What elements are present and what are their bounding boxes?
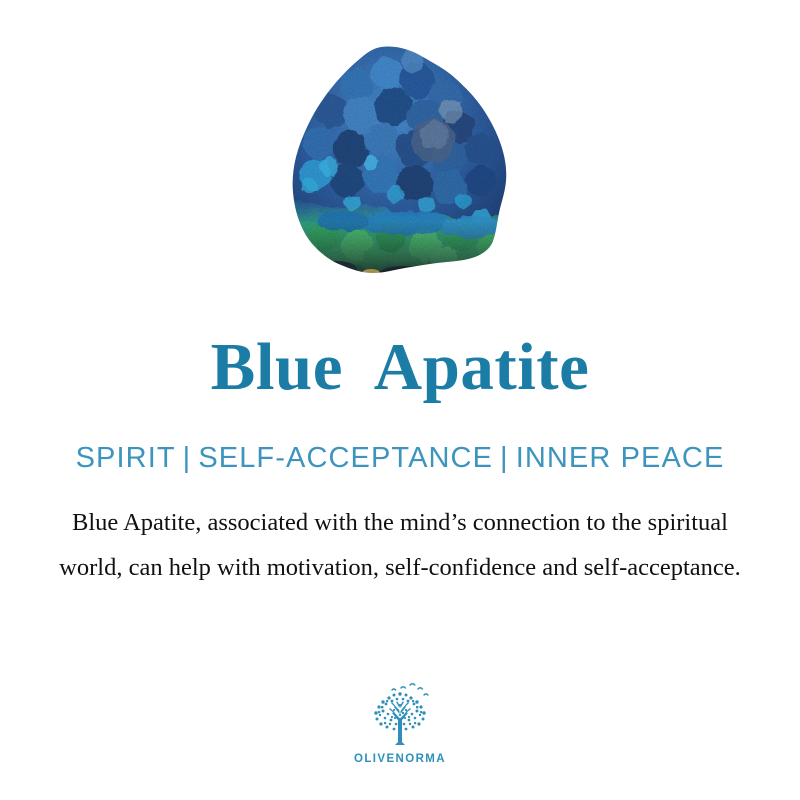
keyword-inner-peace: INNER PEACE [516, 442, 725, 474]
mineral-specimen-image [285, 45, 517, 285]
mineral-specimen-icon [285, 45, 517, 285]
product-description: Blue Apatite, associated with the mind’s… [40, 500, 760, 590]
product-keywords: SPIRIT|SELF-ACCEPTANCE|INNER PEACE [0, 443, 800, 475]
brand-name: OLIVENORMA [354, 753, 446, 765]
product-title: Blue Apatite [0, 334, 800, 401]
product-info-card: Blue Apatite SPIRIT|SELF-ACCEPTANCE|INNE… [0, 0, 800, 800]
keyword-spirit: SPIRIT [76, 442, 176, 474]
tree-of-life-icon [361, 682, 439, 752]
keyword-self-acceptance: SELF-ACCEPTANCE [198, 442, 493, 474]
brand-logo: OLIVENORMA [0, 682, 800, 765]
keyword-separator-2: | [493, 442, 516, 474]
keyword-separator-1: | [176, 442, 199, 474]
